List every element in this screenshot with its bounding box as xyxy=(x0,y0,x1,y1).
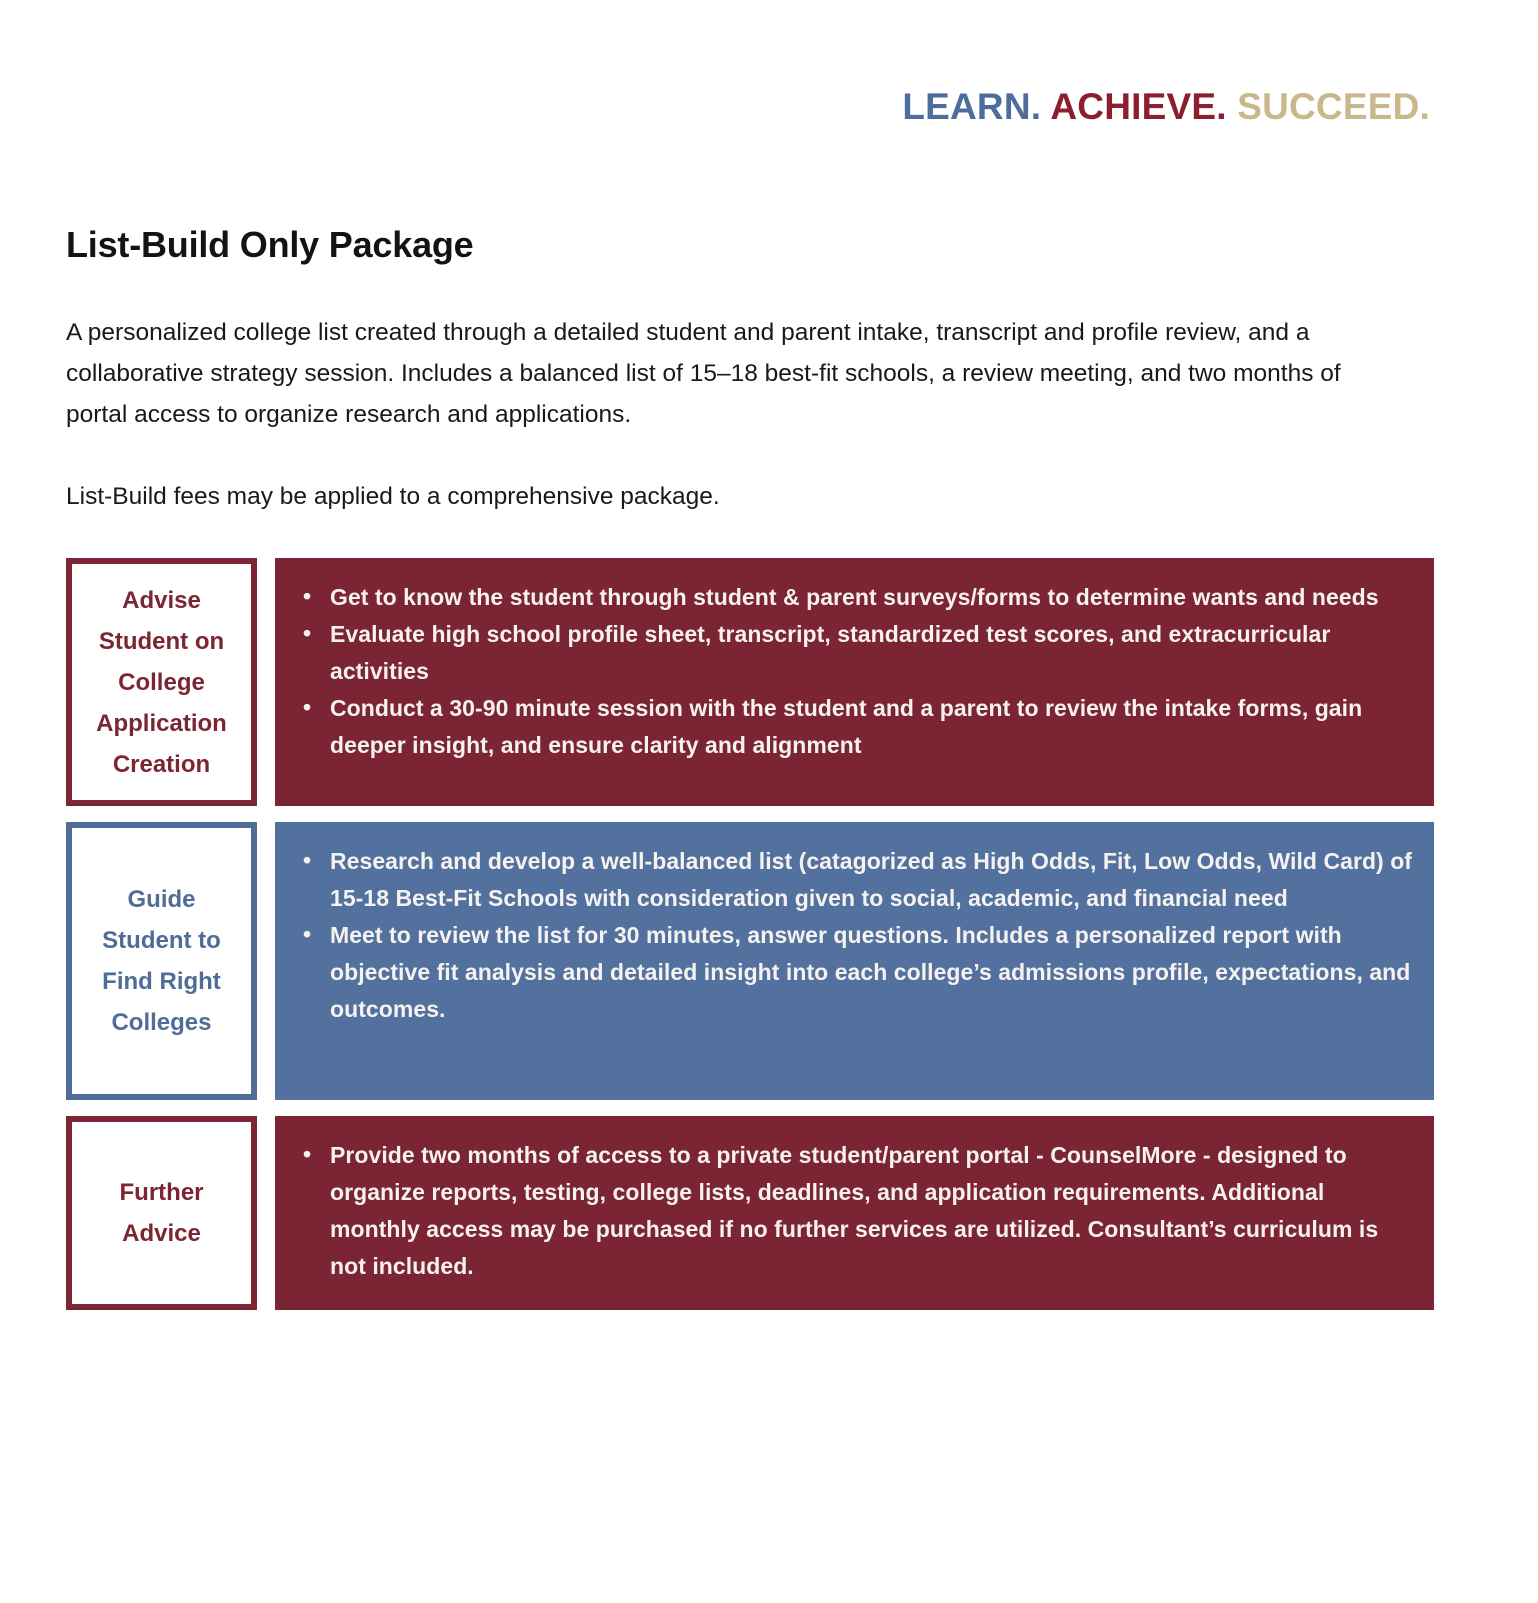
service-row: Guide Student to Find Right Colleges Res… xyxy=(66,822,1434,1100)
service-label-box-advise: Advise Student on College Application Cr… xyxy=(66,558,257,806)
tagline-word-achieve: ACHIEVE. xyxy=(1050,86,1226,127)
service-detail-panel: Get to know the student through student … xyxy=(275,558,1434,806)
service-bullet-list: Get to know the student through student … xyxy=(297,579,1412,764)
list-item: Research and develop a well-balanced lis… xyxy=(297,843,1412,917)
service-row: Advise Student on College Application Cr… xyxy=(66,558,1434,806)
brand-tagline: LEARN. ACHIEVE. SUCCEED. xyxy=(902,86,1430,128)
list-item: Get to know the student through student … xyxy=(297,579,1412,616)
service-label-box-guide: Guide Student to Find Right Colleges xyxy=(66,822,257,1100)
list-item: Provide two months of access to a privat… xyxy=(297,1137,1412,1285)
list-item: Meet to review the list for 30 minutes, … xyxy=(297,917,1412,1028)
list-item: Evaluate high school profile sheet, tran… xyxy=(297,616,1412,690)
service-bullet-list: Provide two months of access to a privat… xyxy=(297,1137,1412,1285)
service-detail-panel: Research and develop a well-balanced lis… xyxy=(275,822,1434,1100)
service-row: Further Advice Provide two months of acc… xyxy=(66,1116,1434,1310)
service-bullet-list: Research and develop a well-balanced lis… xyxy=(297,843,1412,1028)
list-item: Conduct a 30-90 minute session with the … xyxy=(297,690,1412,764)
intro-paragraph-1: A personalized college list created thro… xyxy=(66,312,1396,435)
service-detail-panel: Provide two months of access to a privat… xyxy=(275,1116,1434,1310)
tagline-word-succeed: SUCCEED. xyxy=(1237,86,1430,127)
tagline-word-learn: LEARN. xyxy=(902,86,1041,127)
page-title: List-Build Only Package xyxy=(66,224,474,266)
intro-section: A personalized college list created thro… xyxy=(66,312,1396,517)
service-rows: Advise Student on College Application Cr… xyxy=(66,558,1434,1310)
service-label-text: Further Advice xyxy=(120,1172,204,1254)
service-label-box-further-advice: Further Advice xyxy=(66,1116,257,1310)
service-label-text: Advise Student on College Application Cr… xyxy=(96,580,227,785)
service-label-text: Guide Student to Find Right Colleges xyxy=(102,879,221,1043)
intro-paragraph-2: List-Build fees may be applied to a comp… xyxy=(66,476,1396,517)
